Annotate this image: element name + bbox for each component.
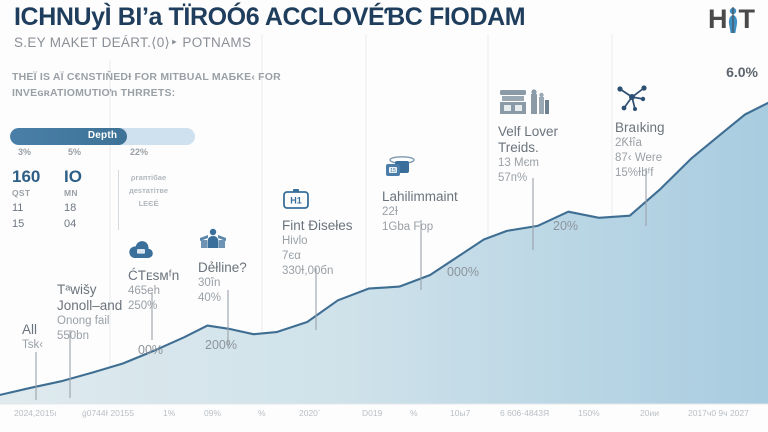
depth-progress[interactable]: Depth 3%5%22%	[10, 128, 195, 161]
header: ICHNUyÌ BI’a TÏROÓ6 ACCLOVÉƁC FIODAM S.E…	[14, 4, 654, 51]
annotation-jonoll-and-sub-1: 550bn	[57, 329, 122, 344]
x-axis-label-9: 6 606·4843Я	[500, 408, 549, 418]
intro-line-2: INVEɢʀATIOMUTIOŉ THRRETS:	[12, 86, 292, 102]
progress-tick-0: 3%	[18, 147, 31, 157]
annotation-braiking-sub-0: 2ƘƗîa	[615, 136, 665, 151]
stat-divider	[118, 170, 119, 230]
annotation-ctesn-cloud[interactable]: ĆTᴇѕᴍᶠn465eh250%	[128, 240, 179, 314]
network-nodes-icon	[615, 82, 665, 117]
stat-row-1a: 11	[12, 202, 64, 214]
annotation-decline-sub-0: 30în	[198, 276, 247, 291]
page-title: ICHNUyÌ BI’a TÏROÓ6 ACCLOVÉƁC FIODAM	[14, 4, 654, 30]
annotation-welf-lover-treids-title-1: Treіds.	[498, 140, 558, 156]
annotation-decline[interactable]: Dẻłline?30în40%	[198, 228, 247, 306]
annotation-lahilimmaint-sub-0: 22Ɨ	[382, 205, 458, 220]
logo-text-right: T	[739, 6, 755, 33]
stat-value-2: IO	[64, 168, 116, 185]
scanner-icon: 15	[382, 155, 458, 186]
x-axis-label-7: %	[410, 408, 418, 418]
x-axis-label-5: 2020ˋ	[299, 408, 321, 418]
progress-label: Depth	[10, 130, 195, 141]
page-subtitle: S.EY MAKET DEÁRT.⟨0⟩‣ POTNAMS	[14, 35, 654, 51]
end-value-label: 6.0%	[726, 64, 758, 80]
annotation-welf-lover-treids-title-0: Velf Lover	[498, 124, 558, 140]
annotation-all-task-sub-0: Tsk‹	[22, 338, 43, 353]
x-axis-label-10: 150%	[578, 408, 600, 418]
stat-caption-2: MN	[64, 188, 116, 198]
x-axis-label-0: 2024,2015ı	[14, 408, 57, 418]
annotation-jonoll-and-title-0: Tᵃwišy	[57, 282, 122, 298]
stat-block: 160 QST 11 15 IO MN 18 04 ρгаптiбаедеѕта…	[12, 168, 168, 230]
stat-row-2a: 18	[64, 202, 116, 214]
stat-note-line-1: деѕтатітве	[129, 185, 168, 198]
infographic-chart: ICHNUyÌ BI’a TÏROÓ6 ACCLOVÉƁC FIODAM S.E…	[0, 0, 768, 432]
annotation-lahilimmaint-title-0: Lahilimmaint	[382, 189, 458, 205]
svg-text:15: 15	[390, 168, 396, 174]
stat-caption-1: QST	[12, 188, 64, 198]
x-axis-label-8: 10ы7	[450, 408, 470, 418]
annotation-lahilimmaint[interactable]: 15Lahilimmaint22Ɨ1Gba Fop	[382, 155, 458, 235]
svg-text:H1: H1	[290, 196, 302, 206]
annotation-braiking[interactable]: Braıking2ƘƗîa87‹ Were15%Ɨbᶠf	[615, 82, 665, 181]
factory-icon	[498, 88, 558, 121]
x-axis-label-2: 1%	[163, 408, 175, 418]
stat-row-2b: 04	[64, 218, 116, 230]
annotation-ctesn-cloud-sub-1: 250%	[128, 299, 179, 314]
progress-tick-1: 5%	[68, 147, 81, 157]
annotation-welf-lover-treids[interactable]: Velf LoverTreіds.13 Mєm57п%	[498, 88, 558, 186]
inline-percent-0: 00%	[138, 343, 163, 357]
x-axis-label-12: 2017ч0 9ч 2027	[688, 408, 749, 418]
annotation-jonoll-and-title-1: Jonoll–and	[57, 298, 122, 314]
annotation-ctesn-cloud-title-0: ĆTᴇѕᴍᶠn	[128, 268, 179, 284]
annotation-fint-diseles-sub-1: 7єα	[282, 249, 353, 264]
annotation-braiking-title-0: Braıking	[615, 120, 665, 136]
inline-percent-1: 200%	[205, 338, 237, 352]
annotation-decline-title-0: Dẻłline?	[198, 260, 247, 276]
x-axis-label-11: 20ии	[640, 408, 659, 418]
progress-tick-labels: 3%5%22%	[10, 147, 195, 161]
annotation-braiking-sub-2: 15%Ɨbᶠf	[615, 166, 665, 181]
stat-note-line-0: ρгаптiбае	[129, 172, 168, 185]
people-group-icon	[198, 228, 247, 257]
inline-percent-2: 000%	[447, 265, 479, 279]
annotation-lahilimmaint-sub-1: 1Gba Fop	[382, 220, 458, 235]
stat-note-line-2: LEЄÉ	[129, 198, 168, 211]
logo-text-left: H	[708, 6, 727, 33]
annotation-fint-diseles-title-0: Fint Đіѕełes	[282, 218, 353, 234]
annotation-all-task[interactable]: AllTsk‹	[22, 322, 43, 353]
cloud-icon	[128, 240, 179, 265]
annotation-jonoll-and-sub-0: Onong fail	[57, 314, 122, 329]
x-axis-label-4: %	[258, 408, 266, 418]
h1-badge-icon: H1	[282, 188, 353, 215]
inline-percent-3: 20%	[553, 219, 578, 233]
person-figure-icon	[726, 7, 740, 33]
stat-value-1: 160	[12, 168, 64, 185]
x-axis-labels: 2024,2015ıġ0744Ɨ 201551%09%%2020ˋD019%10…	[0, 408, 768, 428]
annotation-welf-lover-treids-sub-1: 57п%	[498, 171, 558, 186]
progress-tick-2: 22%	[130, 147, 148, 157]
annotation-braiking-sub-1: 87‹ Were	[615, 151, 665, 166]
annotation-all-task-title-0: All	[22, 322, 43, 338]
progress-track[interactable]: Depth	[10, 128, 195, 145]
stat-note: ρгаптiбаедеѕтатітвеLEЄÉ	[129, 168, 168, 210]
annotation-jonoll-and[interactable]: TᵃwišyJonoll–andOnong fail550bn	[57, 282, 122, 344]
brand-logo[interactable]: H T	[708, 6, 754, 33]
stat-row-1b: 15	[12, 218, 64, 230]
intro-block: THEÏ IS AÏ C€ΝSTIŇEDƗ FOR MITBUAL MAБKE‹…	[12, 70, 292, 102]
annotation-ctesn-cloud-sub-0: 465eh	[128, 284, 179, 299]
annotation-decline-sub-1: 40%	[198, 291, 247, 306]
intro-line-1: THEÏ IS AÏ C€ΝSTIŇEDƗ FOR MITBUAL MAБKE‹…	[12, 70, 292, 86]
x-axis-label-1: ġ0744Ɨ 20155	[82, 408, 134, 418]
stat-column-2: IO MN 18 04	[64, 168, 116, 230]
annotation-welf-lover-treids-sub-0: 13 Mєm	[498, 156, 558, 171]
annotation-fint-diseles-sub-2: 330Ɨ,00бn	[282, 264, 353, 279]
x-axis-label-3: 09%	[204, 408, 221, 418]
x-axis-label-6: D019	[362, 408, 382, 418]
annotation-fint-diseles[interactable]: H1Fint ĐіѕełesHіvlo7єα330Ɨ,00бn	[282, 188, 353, 279]
annotation-fint-diseles-sub-0: Hіvlo	[282, 234, 353, 249]
stat-column-1: 160 QST 11 15	[12, 168, 64, 230]
